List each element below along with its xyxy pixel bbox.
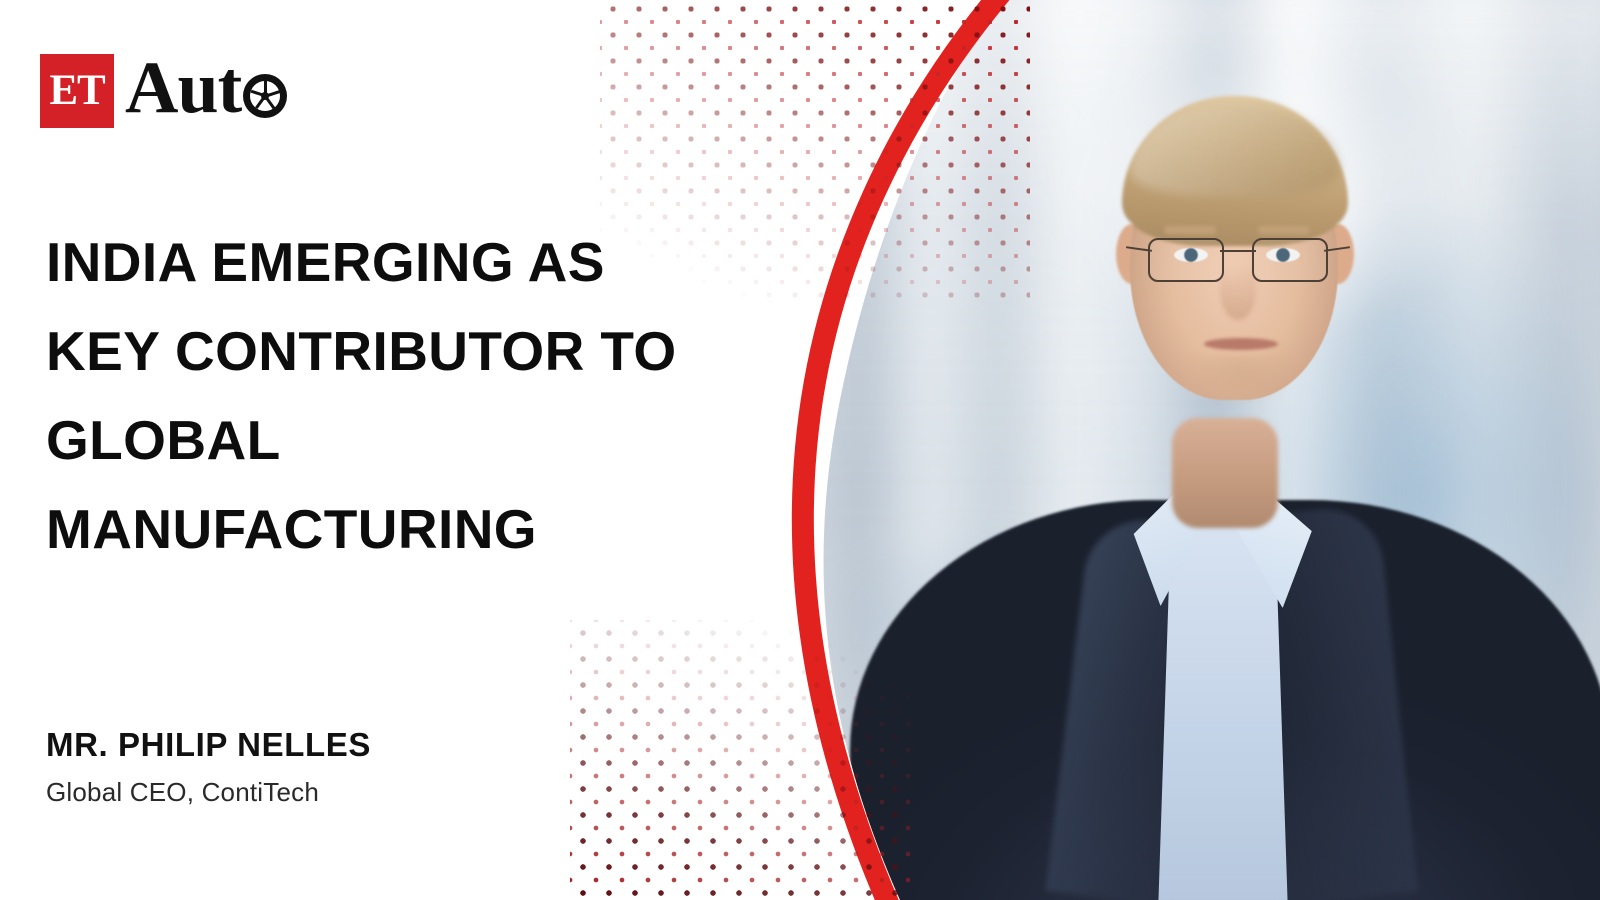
et-badge-text: ET — [49, 69, 104, 112]
speaker-photo — [800, 0, 1600, 900]
headline-line: GLOBAL — [46, 396, 746, 485]
neck — [1172, 418, 1278, 528]
glasses-lens-left — [1148, 238, 1224, 282]
auto-wordmark: Aut — [125, 54, 287, 128]
headline-line: INDIA EMERGING AS — [46, 218, 746, 307]
et-badge: ET — [40, 54, 114, 128]
glasses-lens-right — [1252, 238, 1328, 282]
mouth — [1204, 338, 1278, 350]
tire-wheel-icon — [243, 74, 287, 118]
headline-line: MANUFACTURING — [46, 485, 746, 574]
speaker-name: MR. PHILIP NELLES — [46, 727, 371, 763]
speaker-role: Global CEO, ContiTech — [46, 777, 371, 808]
headline-line: KEY CONTRIBUTOR TO — [46, 307, 746, 396]
glasses-bridge — [1220, 250, 1256, 252]
speaker-block: MR. PHILIP NELLES Global CEO, ContiTech — [46, 727, 371, 808]
auto-wordmark-text: Aut — [125, 51, 241, 125]
quote-card: ET Aut INDIA EMERGING AS KEY CONTRIBUTOR… — [0, 0, 1600, 900]
eyeglasses-icon — [1148, 232, 1328, 286]
headline: INDIA EMERGING AS KEY CONTRIBUTOR TO GLO… — [46, 218, 746, 574]
wheel-hub — [261, 92, 269, 100]
etauto-logo[interactable]: ET Aut — [40, 54, 287, 128]
chin-shadow — [1186, 356, 1296, 404]
